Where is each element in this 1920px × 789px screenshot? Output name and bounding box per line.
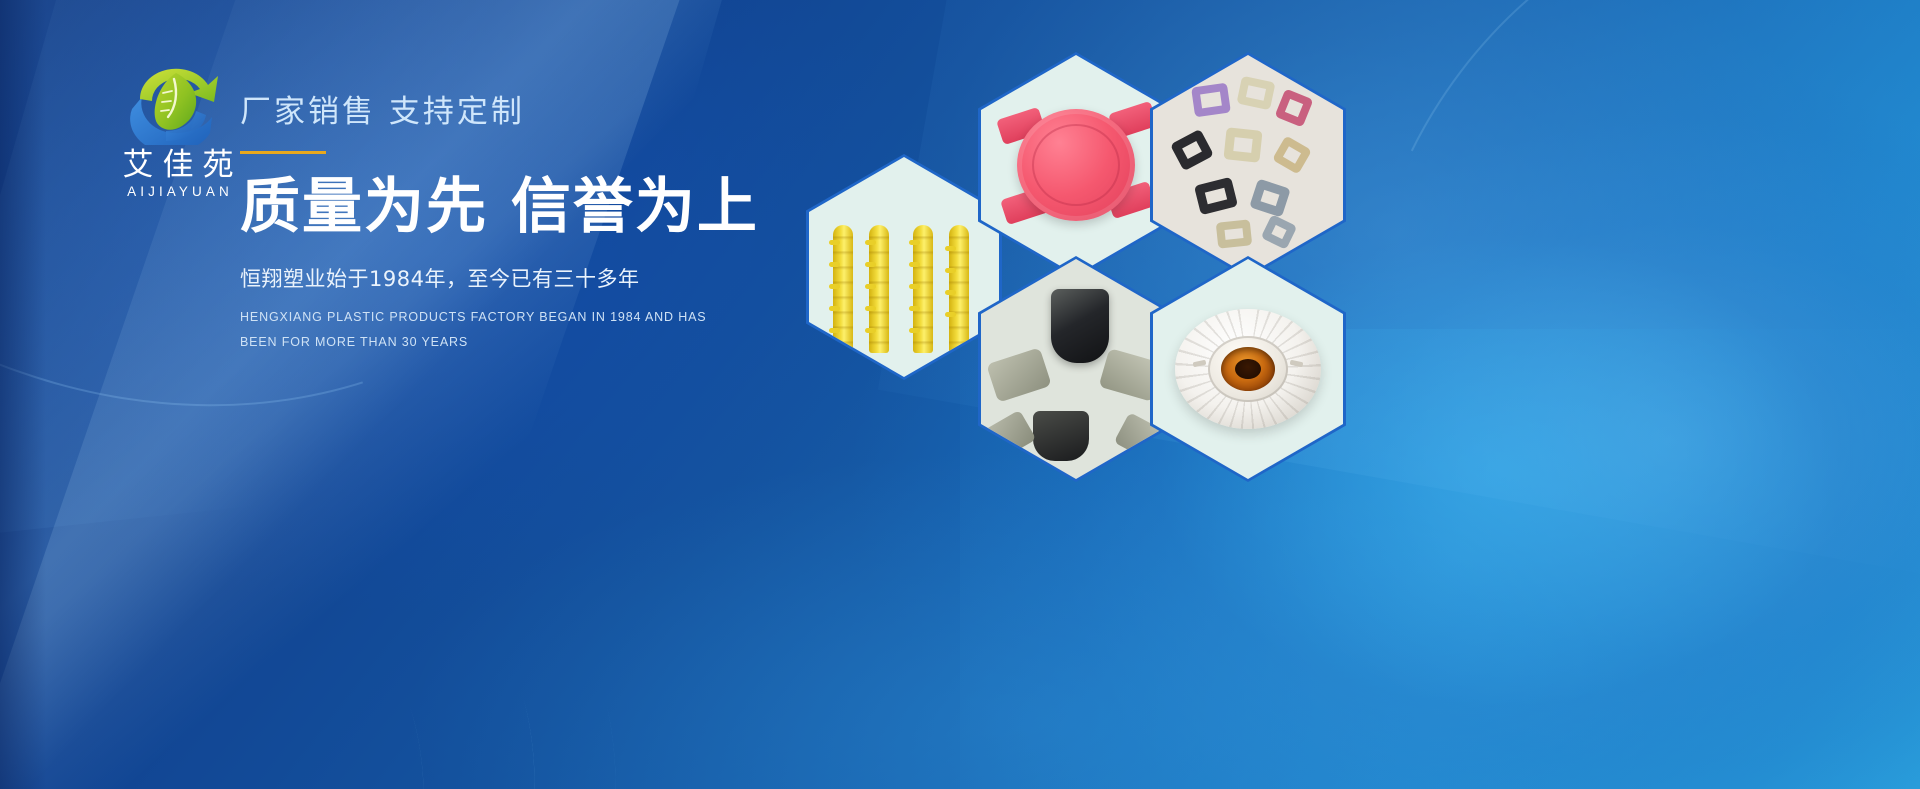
product-tile-assorted-buckles[interactable] (1150, 52, 1346, 278)
headline-copy-block: 厂家销售 支持定制 质量为先 信誉为上 恒翔塑业始于1984年，至今已有三十多年… (240, 86, 900, 355)
light-glow-bottom (380, 439, 1680, 789)
promo-banner: 艾佳苑 AIJIAYUAN 厂家销售 支持定制 质量为先 信誉为上 恒翔塑业始于… (0, 0, 1920, 789)
product-tile-red-junction-box[interactable] (978, 52, 1174, 278)
red-junction-box-image (981, 55, 1171, 275)
product-tile-white-lamp-holder[interactable] (1150, 256, 1346, 482)
accent-divider (240, 151, 326, 154)
english-subtitle-line-2: BEEN FOR MORE THAN 30 YEARS (240, 330, 900, 355)
left-edge-shade (0, 0, 46, 789)
english-subtitle-line-1: HENGXIANG PLASTIC PRODUCTS FACTORY BEGAN… (240, 305, 900, 330)
eyebrow-text: 厂家销售 支持定制 (240, 86, 900, 131)
assorted-buckles-image (1153, 55, 1343, 275)
subtitle-text: 恒翔塑业始于1984年，至今已有三十多年 (240, 263, 900, 293)
product-tile-grey-black-clips[interactable] (978, 256, 1174, 482)
white-lamp-holder-image (1153, 259, 1343, 479)
product-tile-yellow-wall-anchors[interactable] (806, 154, 1002, 380)
yellow-wall-anchors-image (809, 157, 999, 377)
leaf-swoosh-logo-icon (118, 53, 238, 145)
product-hexagon-collage (806, 52, 1326, 382)
ribbon-arc-1 (0, 284, 628, 789)
ribbon-arc-3 (0, 354, 519, 789)
page-title: 质量为先 信誉为上 (240, 174, 900, 241)
grey-black-clips-image (981, 259, 1171, 479)
